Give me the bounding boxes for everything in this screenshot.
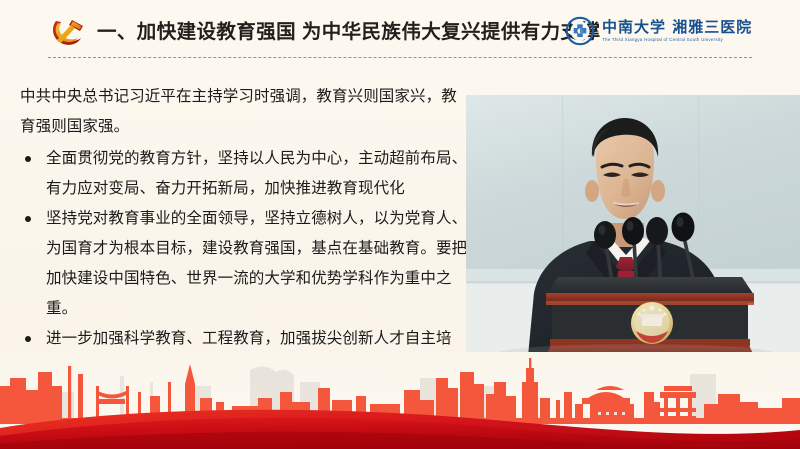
hammer-and-sickle-icon: [49, 16, 89, 50]
lead-paragraph: 中共中央总书记习近平在主持学习时强调，教育兴则国家兴，教育强则国家强。: [20, 82, 472, 142]
speaker-at-podium-photo: [466, 95, 800, 356]
footer-decoration: [0, 352, 800, 449]
slide-body: 中共中央总书记习近平在主持学习时强调，教育兴则国家兴，教育强则国家强。 全面贯彻…: [20, 82, 472, 384]
hospital-name-cn: 中南大学 湘雅三医院: [602, 20, 752, 35]
hospital-cross-circle-icon: [565, 16, 595, 46]
hospital-logo-wordmark: 中南大学 湘雅三医院 The Third Xiangya Hospital of…: [602, 20, 752, 43]
bullet-dot-icon: [25, 216, 31, 222]
slide-header: 一、加快建设教育强国 为中华民族伟大复兴提供有力支撑 中南大学 湘雅三医院 Th…: [0, 0, 800, 64]
hospital-logo: 中南大学 湘雅三医院 The Third Xiangya Hospital of…: [565, 12, 780, 50]
page-title: 一、加快建设教育强国 为中华民族伟大复兴提供有力支撑: [97, 18, 600, 46]
list-item: 全面贯彻党的教育方针，坚持以人民为中心，主动超前布局、有力应对变局、奋力开拓新局…: [20, 144, 472, 204]
hospital-name-en: The Third Xiangya Hospital of Central So…: [602, 38, 752, 43]
bullet-dot-icon: [25, 156, 31, 162]
presentation-slide: 一、加快建设教育强国 为中华民族伟大复兴提供有力支撑 中南大学 湘雅三医院 Th…: [0, 0, 800, 449]
bullet-dot-icon: [25, 336, 31, 342]
list-item-text: 坚持党对教育事业的全面领导，坚持立德树人，以为党育人、为国育才为根本目标，建设教…: [46, 210, 467, 317]
header-divider: [48, 57, 752, 58]
list-item-text: 全面贯彻党的教育方针，坚持以人民为中心，主动超前布局、有力应对变局、奋力开拓新局…: [46, 150, 467, 197]
bullet-list: 全面贯彻党的教育方针，坚持以人民为中心，主动超前布局、有力应对变局、奋力开拓新局…: [20, 144, 472, 384]
list-item: 坚持党对教育事业的全面领导，坚持立德树人，以为党育人、为国育才为根本目标，建设教…: [20, 204, 472, 324]
